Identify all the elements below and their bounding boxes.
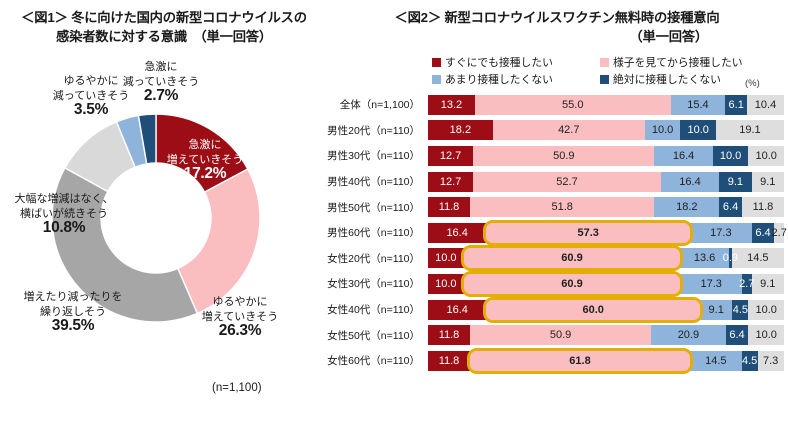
bar-segment-value: 6.1 [729, 99, 744, 111]
bar-row-label: 男性20代（n=110） [318, 123, 428, 138]
bar-segment: 13.2 [428, 95, 475, 115]
bar-segment-value: 16.4 [446, 304, 467, 316]
donut-label-5: 急激に 減っていきそう 2.7% [113, 60, 209, 105]
bar-segment: 12.7 [428, 172, 473, 192]
legend-swatch-2 [432, 75, 441, 84]
legend-label-2: あまり接種したくない [445, 71, 553, 87]
bar-segment: 60.9 [464, 274, 681, 294]
bar-segment-value: 10.0 [435, 252, 456, 264]
bar-segment-value: 52.7 [556, 176, 577, 188]
bar-row: 女性40代（n=110）16.460.09.14.510.0 [318, 297, 784, 323]
bar-segment-value: 50.9 [553, 150, 574, 162]
donut-label-0: 急激に 増えていきそう 17.2% [150, 138, 260, 183]
bar-track: 12.750.916.410.010.0 [428, 146, 784, 166]
bar-track: 16.457.317.36.42.7 [428, 223, 784, 243]
bar-segment-value: 10.0 [755, 329, 776, 341]
bar-segment: 14.5 [690, 351, 742, 371]
bar-segment: 9.1 [719, 172, 751, 192]
bar-segment: 10.0 [428, 248, 464, 268]
bar-segment-value: 10.0 [435, 278, 456, 290]
bar-row: 女性60代（n=110）11.861.814.54.57.3 [318, 348, 784, 374]
bar-segment: 17.3 [690, 223, 752, 243]
bar-segment: 7.3 [758, 351, 784, 371]
bar-row: 女性20代（n=110）10.060.913.60.914.5 [318, 246, 784, 272]
bar-row-label: 男性60代（n=110） [318, 225, 428, 240]
bar-row: 男性20代（n=110）18.242.710.010.019.1 [318, 118, 784, 144]
bar-segment: 20.9 [651, 325, 725, 345]
bar-segment: 12.7 [428, 146, 473, 166]
legend-label-0: すぐにでも接種したい [445, 54, 553, 70]
bar-segment: 18.2 [428, 120, 493, 140]
legend-item-0: すぐにでも接種したい [432, 54, 553, 70]
donut-label-2: 増えたり減ったりを 繰り返しそう 39.5% [8, 290, 138, 335]
bar-track: 12.752.716.49.19.1 [428, 172, 784, 192]
bar-segment-value: 14.5 [747, 252, 768, 264]
legend-swatch-0 [432, 58, 441, 67]
donut-label-1: ゆるやかに 増えていきそう 26.3% [185, 295, 295, 340]
bar-segment: 16.4 [428, 223, 486, 243]
bar-segment: 11.8 [428, 351, 470, 371]
fig1-title-line2: 感染者数に対する意識 （単一回答） [56, 29, 272, 44]
fig2-title: ＜図2＞ 新型コロナウイルスワクチン無料時の接種意向 （単一回答） [332, 8, 782, 46]
bar-segment-value: 4.5 [733, 304, 748, 316]
bar-segment: 10.4 [747, 95, 784, 115]
bar-segment-value: 10.0 [720, 150, 741, 162]
bar-segment: 11.8 [742, 197, 784, 217]
bar-segment-value: 6.4 [729, 329, 744, 341]
bar-segment: 6.4 [719, 197, 742, 217]
legend-item-1: 様子を見てから接種したい [600, 54, 743, 70]
bar-segment: 2.7 [742, 274, 752, 294]
bar-segment-value: 42.7 [558, 124, 579, 136]
legend-swatch-1 [600, 58, 609, 67]
bar-segment: 11.8 [428, 197, 470, 217]
bar-track: 11.850.920.96.410.0 [428, 325, 784, 345]
donut-label-3: 大幅な増減はなく、 横ばいが続きそう 10.8% [0, 192, 128, 237]
bar-segment: 17.3 [680, 274, 742, 294]
fig1-title-line1: ＜図1＞ 冬に向けた国内の新型コロナウイルスの [21, 10, 307, 25]
bar-segment: 15.4 [671, 95, 726, 115]
bar-segment-value: 51.8 [551, 201, 572, 213]
bar-track: 11.861.814.54.57.3 [428, 351, 784, 371]
bar-segment-value: 16.4 [673, 150, 694, 162]
bar-segment: 4.5 [732, 300, 748, 320]
bar-segment-value: 6.4 [755, 227, 770, 239]
bar-segment-value: 10.0 [755, 150, 776, 162]
bar-segment: 61.8 [470, 351, 690, 371]
bar-segment: 52.7 [473, 172, 661, 192]
bar-segment-value: 10.0 [687, 124, 708, 136]
bar-segment-value: 61.8 [569, 355, 590, 367]
bar-segment: 10.0 [645, 120, 681, 140]
bar-segment-value: 13.2 [441, 99, 462, 111]
legend-swatch-3 [600, 75, 609, 84]
bar-segment: 9.1 [700, 300, 732, 320]
bar-segment: 60.0 [486, 300, 700, 320]
bar-segment-value: 16.4 [679, 176, 700, 188]
bar-segment: 10.0 [428, 274, 464, 294]
legend-item-3: 絶対に接種したくない [600, 71, 721, 87]
bar-segment: 11.8 [428, 325, 470, 345]
bar-segment: 19.1 [716, 120, 784, 140]
bar-row: 男性40代（n=110）12.752.716.49.19.1 [318, 169, 784, 195]
bar-row-label: 女性20代（n=110） [318, 251, 428, 266]
donut-sample-size: (n=1,100) [212, 382, 262, 394]
bar-row-label: 男性40代（n=110） [318, 174, 428, 189]
bar-segment-value: 11.8 [753, 201, 774, 213]
bar-segment: 10.0 [748, 146, 784, 166]
bar-segment-value: 9.1 [760, 176, 775, 188]
bar-segment: 16.4 [654, 146, 712, 166]
bar-segment-value: 20.9 [678, 329, 699, 341]
bar-segment-value: 60.9 [561, 278, 582, 290]
fig1-title: ＜図1＞ 冬に向けた国内の新型コロナウイルスの 感染者数に対する意識 （単一回答… [14, 8, 314, 46]
bar-segment-value: 13.6 [694, 252, 715, 264]
bar-segment: 13.6 [680, 248, 728, 268]
fig2-unit-label: (%) [745, 78, 760, 89]
bar-segment-value: 50.9 [550, 329, 571, 341]
legend-item-2: あまり接種したくない [432, 71, 553, 87]
bar-segment-value: 10.0 [652, 124, 673, 136]
bar-segment: 10.0 [680, 120, 716, 140]
bar-segment-value: 18.2 [450, 124, 471, 136]
bar-row-label: 男性50代（n=110） [318, 200, 428, 215]
bar-row-label: 女性30代（n=110） [318, 276, 428, 291]
donut-slice-1 [178, 169, 260, 313]
bar-segment-value: 14.5 [705, 355, 726, 367]
bar-segment-value: 19.1 [739, 124, 760, 136]
fig2-title-line1: ＜図2＞ 新型コロナウイルスワクチン無料時の接種意向 [332, 8, 782, 27]
bar-segment: 10.0 [748, 325, 784, 345]
bar-segment-value: 12.7 [440, 176, 461, 188]
bar-segment-value: 9.1 [728, 176, 743, 188]
fig1-donut-chart: 急激に 増えていきそう 17.2% ゆるやかに 増えていきそう 26.3% 増え… [0, 52, 312, 424]
bar-segment: 10.0 [748, 300, 784, 320]
bar-row: 男性50代（n=110）11.851.818.26.411.8 [318, 194, 784, 220]
bar-segment: 4.5 [742, 351, 758, 371]
bar-segment: 6.1 [725, 95, 747, 115]
bar-segment-value: 15.4 [687, 99, 708, 111]
bar-segment: 16.4 [428, 300, 486, 320]
bar-segment-value: 60.9 [561, 252, 582, 264]
bar-segment: 16.4 [661, 172, 719, 192]
bar-segment-value: 11.8 [439, 355, 460, 367]
bar-track: 16.460.09.14.510.0 [428, 300, 784, 320]
bar-row: 女性30代（n=110）10.060.917.32.79.1 [318, 271, 784, 297]
bar-segment: 57.3 [486, 223, 690, 243]
bar-segment: 2.7 [774, 223, 784, 243]
bar-segment-value: 17.3 [710, 227, 731, 239]
bar-segment-value: 11.8 [439, 329, 460, 341]
bar-row: 全体（n=1,100）13.255.015.46.110.4 [318, 92, 784, 118]
bar-row: 女性50代（n=110）11.850.920.96.410.0 [318, 322, 784, 348]
bar-segment: 10.0 [713, 146, 749, 166]
bar-segment: 51.8 [470, 197, 654, 217]
bar-segment: 55.0 [475, 95, 671, 115]
bar-segment-value: 55.0 [562, 99, 583, 111]
bar-segment: 6.4 [726, 325, 749, 345]
bar-segment-value: 16.4 [446, 227, 467, 239]
bar-segment: 60.9 [464, 248, 681, 268]
bar-row: 男性30代（n=110）12.750.916.410.010.0 [318, 143, 784, 169]
bar-row-label: 全体（n=1,100） [318, 97, 428, 112]
bar-segment: 18.2 [654, 197, 719, 217]
bar-segment: 9.1 [752, 172, 784, 192]
bar-track: 18.242.710.010.019.1 [428, 120, 784, 140]
fig2-legend: すぐにでも接種したい 様子を見てから接種したい あまり接種したくない 絶対に接種… [432, 54, 782, 86]
bar-row: 男性60代（n=110）16.457.317.36.42.7 [318, 220, 784, 246]
bar-segment-value: 17.3 [700, 278, 721, 290]
bar-track: 10.060.917.32.79.1 [428, 274, 784, 294]
fig2-title-line2: （単一回答） [332, 27, 782, 46]
legend-label-1: 様子を見てから接種したい [613, 54, 743, 70]
bar-segment-value: 2.7 [772, 227, 787, 239]
fig2-stacked-bar-chart: 全体（n=1,100）13.255.015.46.110.4男性20代（n=11… [318, 92, 784, 374]
bar-segment-value: 18.2 [676, 201, 697, 213]
bar-segment-value: 60.0 [582, 304, 603, 316]
bar-segment: 50.9 [470, 325, 651, 345]
legend-label-3: 絶対に接種したくない [613, 71, 721, 87]
bar-segment-value: 9.1 [760, 278, 775, 290]
bar-segment-value: 11.8 [439, 201, 460, 213]
bar-segment-value: 0.9 [723, 252, 738, 264]
bar-segment-value: 7.3 [763, 355, 778, 367]
bar-track: 11.851.818.26.411.8 [428, 197, 784, 217]
bar-track: 13.255.015.46.110.4 [428, 95, 784, 115]
bar-row-label: 男性30代（n=110） [318, 148, 428, 163]
bar-segment: 9.1 [752, 274, 784, 294]
bar-row-label: 女性60代（n=110） [318, 353, 428, 368]
bar-segment: 42.7 [493, 120, 645, 140]
bar-segment-value: 12.7 [440, 150, 461, 162]
bar-segment-value: 57.3 [578, 227, 599, 239]
bar-segment-value: 10.0 [755, 304, 776, 316]
bar-segment: 50.9 [473, 146, 654, 166]
bar-row-label: 女性40代（n=110） [318, 302, 428, 317]
bar-segment-value: 4.5 [742, 355, 757, 367]
bar-segment-value: 10.4 [755, 99, 776, 111]
bar-track: 10.060.913.60.914.5 [428, 248, 784, 268]
bar-row-label: 女性50代（n=110） [318, 328, 428, 343]
bar-segment-value: 9.1 [709, 304, 724, 316]
bar-segment-value: 6.4 [723, 201, 738, 213]
bar-segment-value: 2.7 [739, 278, 754, 290]
bar-segment: 14.5 [732, 248, 784, 268]
